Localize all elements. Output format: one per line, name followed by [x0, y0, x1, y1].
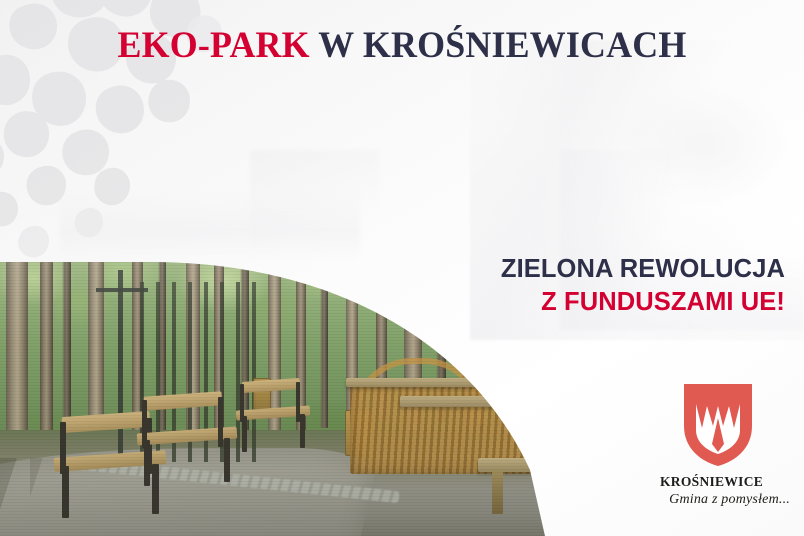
logo-municipality-name: KROŚNIEWICE [660, 474, 790, 490]
poster-canvas: EKO-PARK W KROŚNIEWICACH ZIELONA REWOLUC… [0, 0, 804, 536]
poster-title: EKO-PARK W KROŚNIEWICACH [12, 27, 792, 64]
poster-subtitle: ZIELONA REWOLUCJA Z FUNDUSZAMI UE! [501, 253, 785, 318]
subtitle-line-2: Z FUNDUSZAMI UE! [501, 286, 785, 319]
subtitle-line-1: ZIELONA REWOLUCJA [501, 253, 785, 286]
coat-of-arms-shield-icon [682, 382, 754, 468]
title-highlight: EKO-PARK [117, 25, 309, 66]
logo-tagline: Gmina z pomysłem... [660, 492, 790, 508]
municipal-logo: KROŚNIEWICE Gmina z pomysłem... [660, 382, 790, 514]
title-rest: W KROŚNIEWICACH [310, 25, 687, 66]
